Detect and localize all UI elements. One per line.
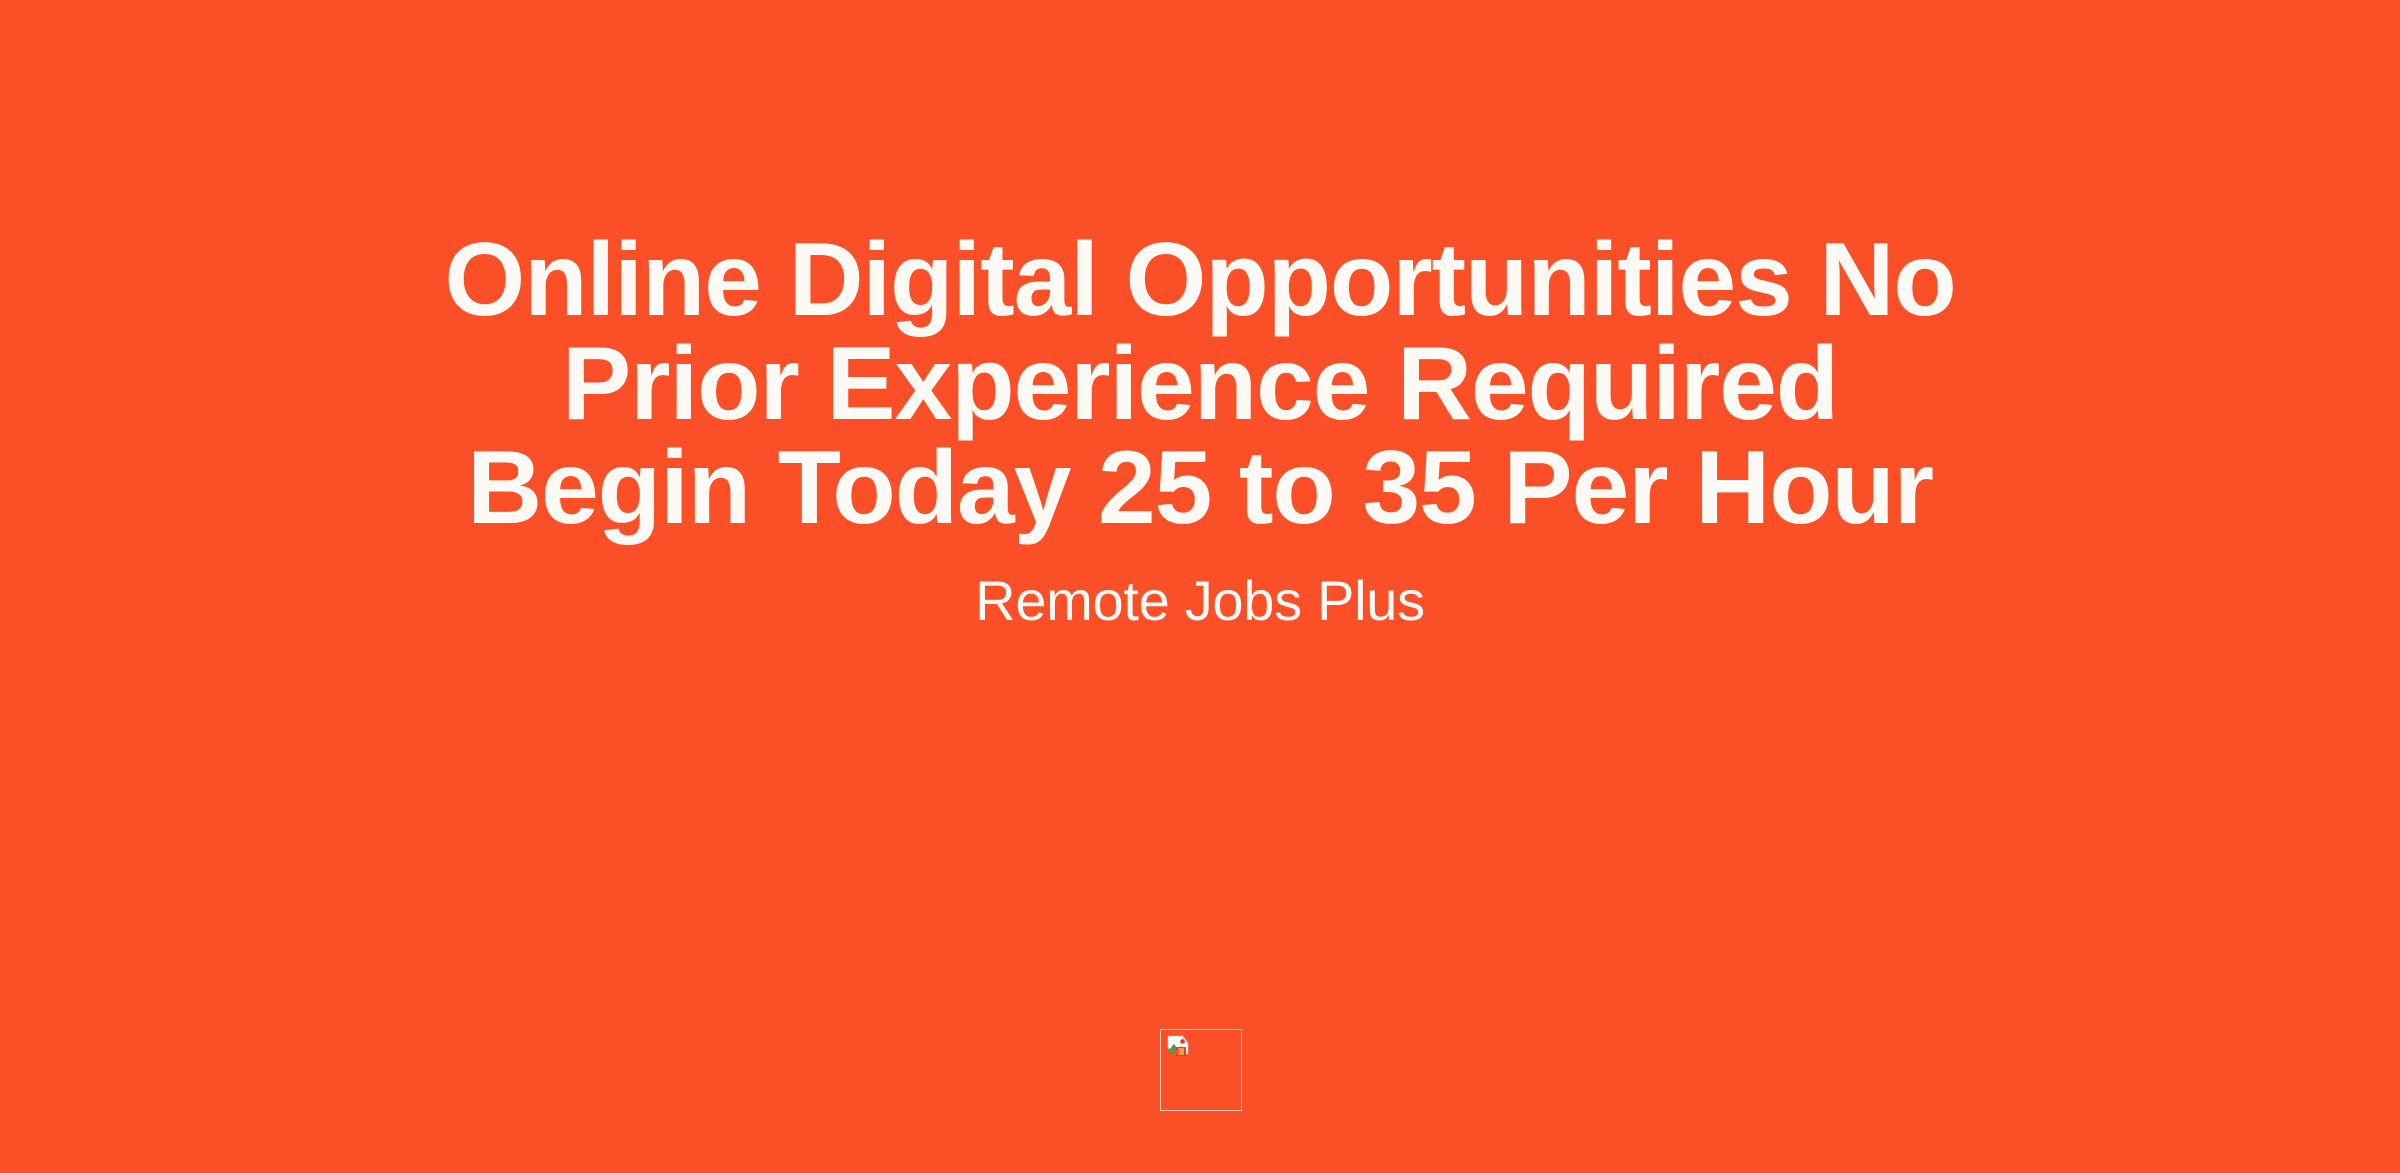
broken-image-frame xyxy=(1160,1029,1242,1111)
headline-line-3: Begin Today 25 to 35 Per Hour xyxy=(280,436,2120,540)
ad-creative-page: Online Digital Opportunities No Prior Ex… xyxy=(0,0,2400,1173)
page-title: Online Digital Opportunities No Prior Ex… xyxy=(280,228,2120,540)
media-placeholder xyxy=(1160,1029,1242,1111)
headline-line-1: Online Digital Opportunities No xyxy=(280,228,2120,332)
page-subtitle: Remote Jobs Plus xyxy=(975,570,1425,632)
hero-section: Online Digital Opportunities No Prior Ex… xyxy=(0,228,2400,632)
headline-line-2: Prior Experience Required xyxy=(280,332,2120,436)
broken-image-icon xyxy=(1165,1034,1191,1060)
